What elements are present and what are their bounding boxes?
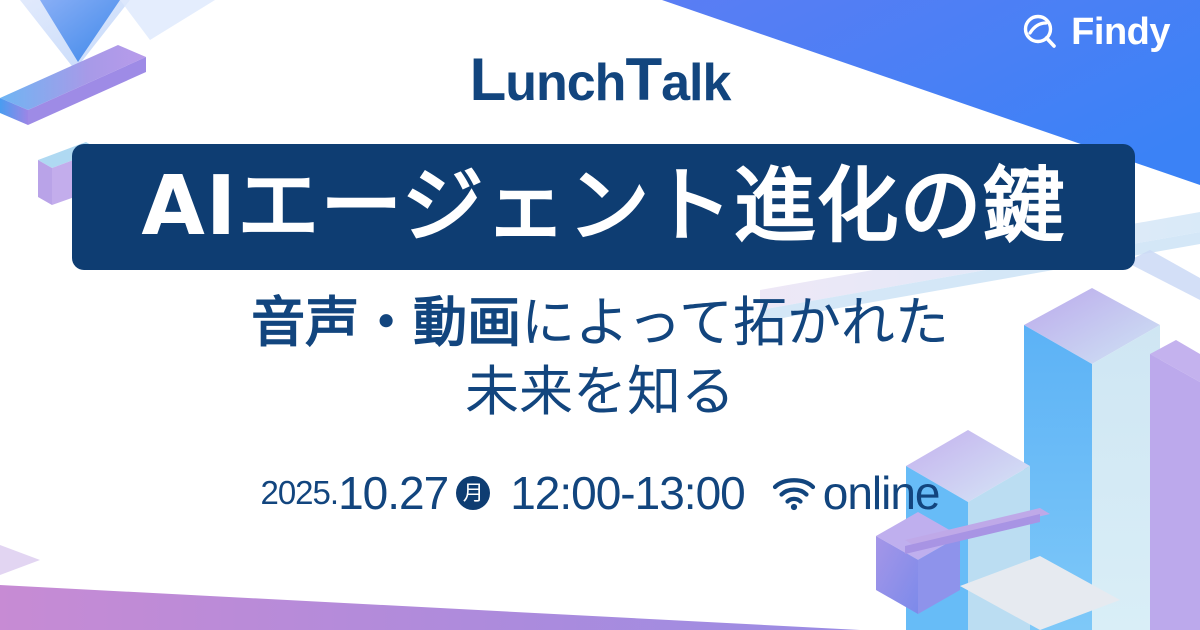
findy-wordmark: Findy bbox=[1071, 13, 1170, 51]
series-label-t: T bbox=[625, 46, 661, 113]
main-title-band: AIエージェント進化の鍵 bbox=[72, 144, 1135, 270]
event-year: 2025. bbox=[260, 474, 338, 512]
event-details-bar: 2025. 10.27 月 12:00-13:00 online bbox=[0, 466, 1200, 520]
findy-logo[interactable]: Findy bbox=[1021, 12, 1170, 52]
subtitle-line-2: 未来を知る bbox=[0, 357, 1200, 426]
series-label-l: L bbox=[470, 46, 506, 113]
subtitle-line1-normal: によって拓かれた bbox=[521, 291, 949, 354]
subtitle-block: 音声・動画によって拓かれた 未来を知る bbox=[0, 288, 1200, 426]
subtitle-line-1: 音声・動画によって拓かれた bbox=[0, 288, 1200, 357]
event-banner: Findy LunchTalk AIエージェント進化の鍵 音声・動画によって拓か… bbox=[0, 0, 1200, 630]
series-label-alk: alk bbox=[661, 54, 730, 112]
subtitle-line1-strong: 音声・動画 bbox=[251, 291, 521, 354]
findy-magnifier-icon bbox=[1021, 12, 1061, 52]
event-date: 10.27 bbox=[338, 466, 448, 520]
wifi-icon bbox=[771, 475, 817, 511]
weekday-badge: 月 bbox=[456, 476, 490, 510]
banner-content: Findy LunchTalk AIエージェント進化の鍵 音声・動画によって拓か… bbox=[0, 0, 1200, 630]
series-label: LunchTalk bbox=[0, 50, 1200, 110]
event-venue: online bbox=[823, 466, 940, 520]
event-time: 12:00-13:00 bbox=[510, 466, 745, 520]
series-label-unch: unch bbox=[505, 54, 625, 112]
main-title: AIエージェント進化の鍵 bbox=[141, 166, 1065, 248]
